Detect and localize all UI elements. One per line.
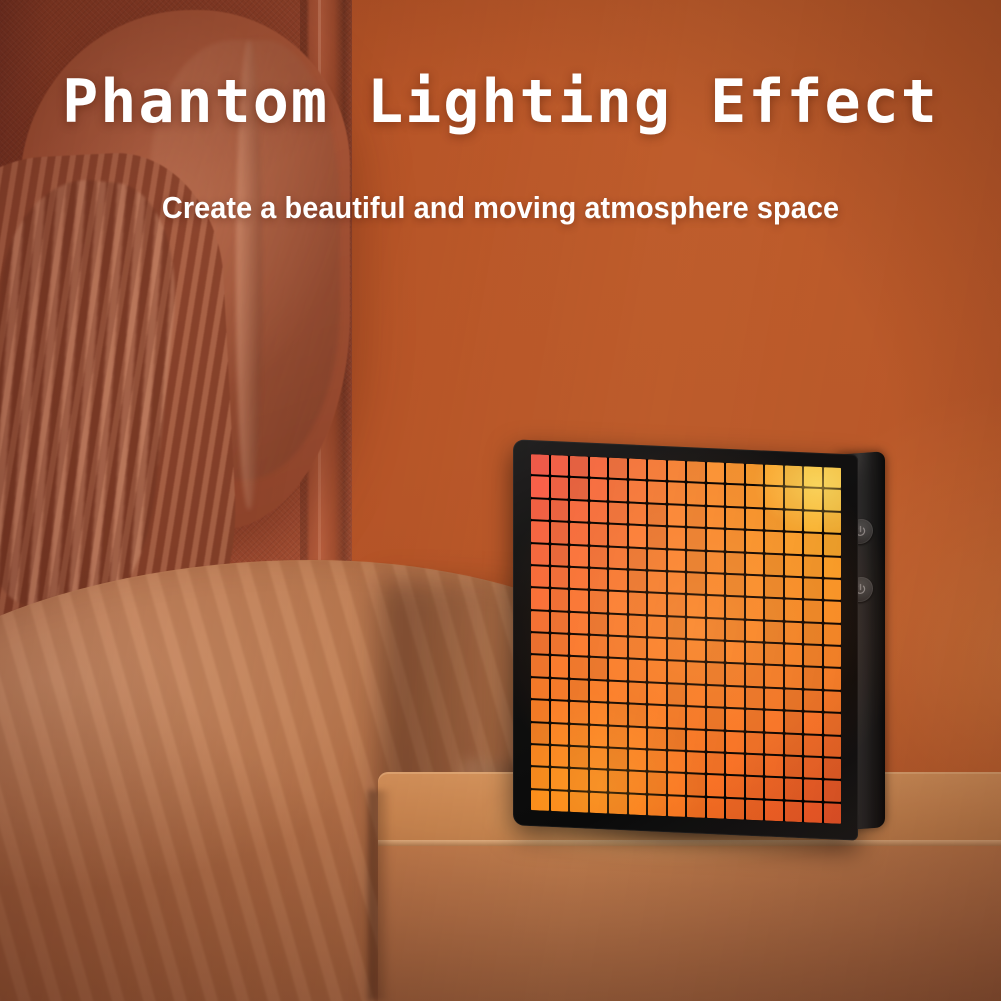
page-title: Phantom Lighting Effect xyxy=(0,72,1001,132)
product-marketing-image: Phantom Lighting Effect Create a beautif… xyxy=(0,0,1001,1001)
page-subtitle: Create a beautiful and moving atmosphere… xyxy=(35,190,966,226)
vignette-overlay xyxy=(0,0,1001,1001)
